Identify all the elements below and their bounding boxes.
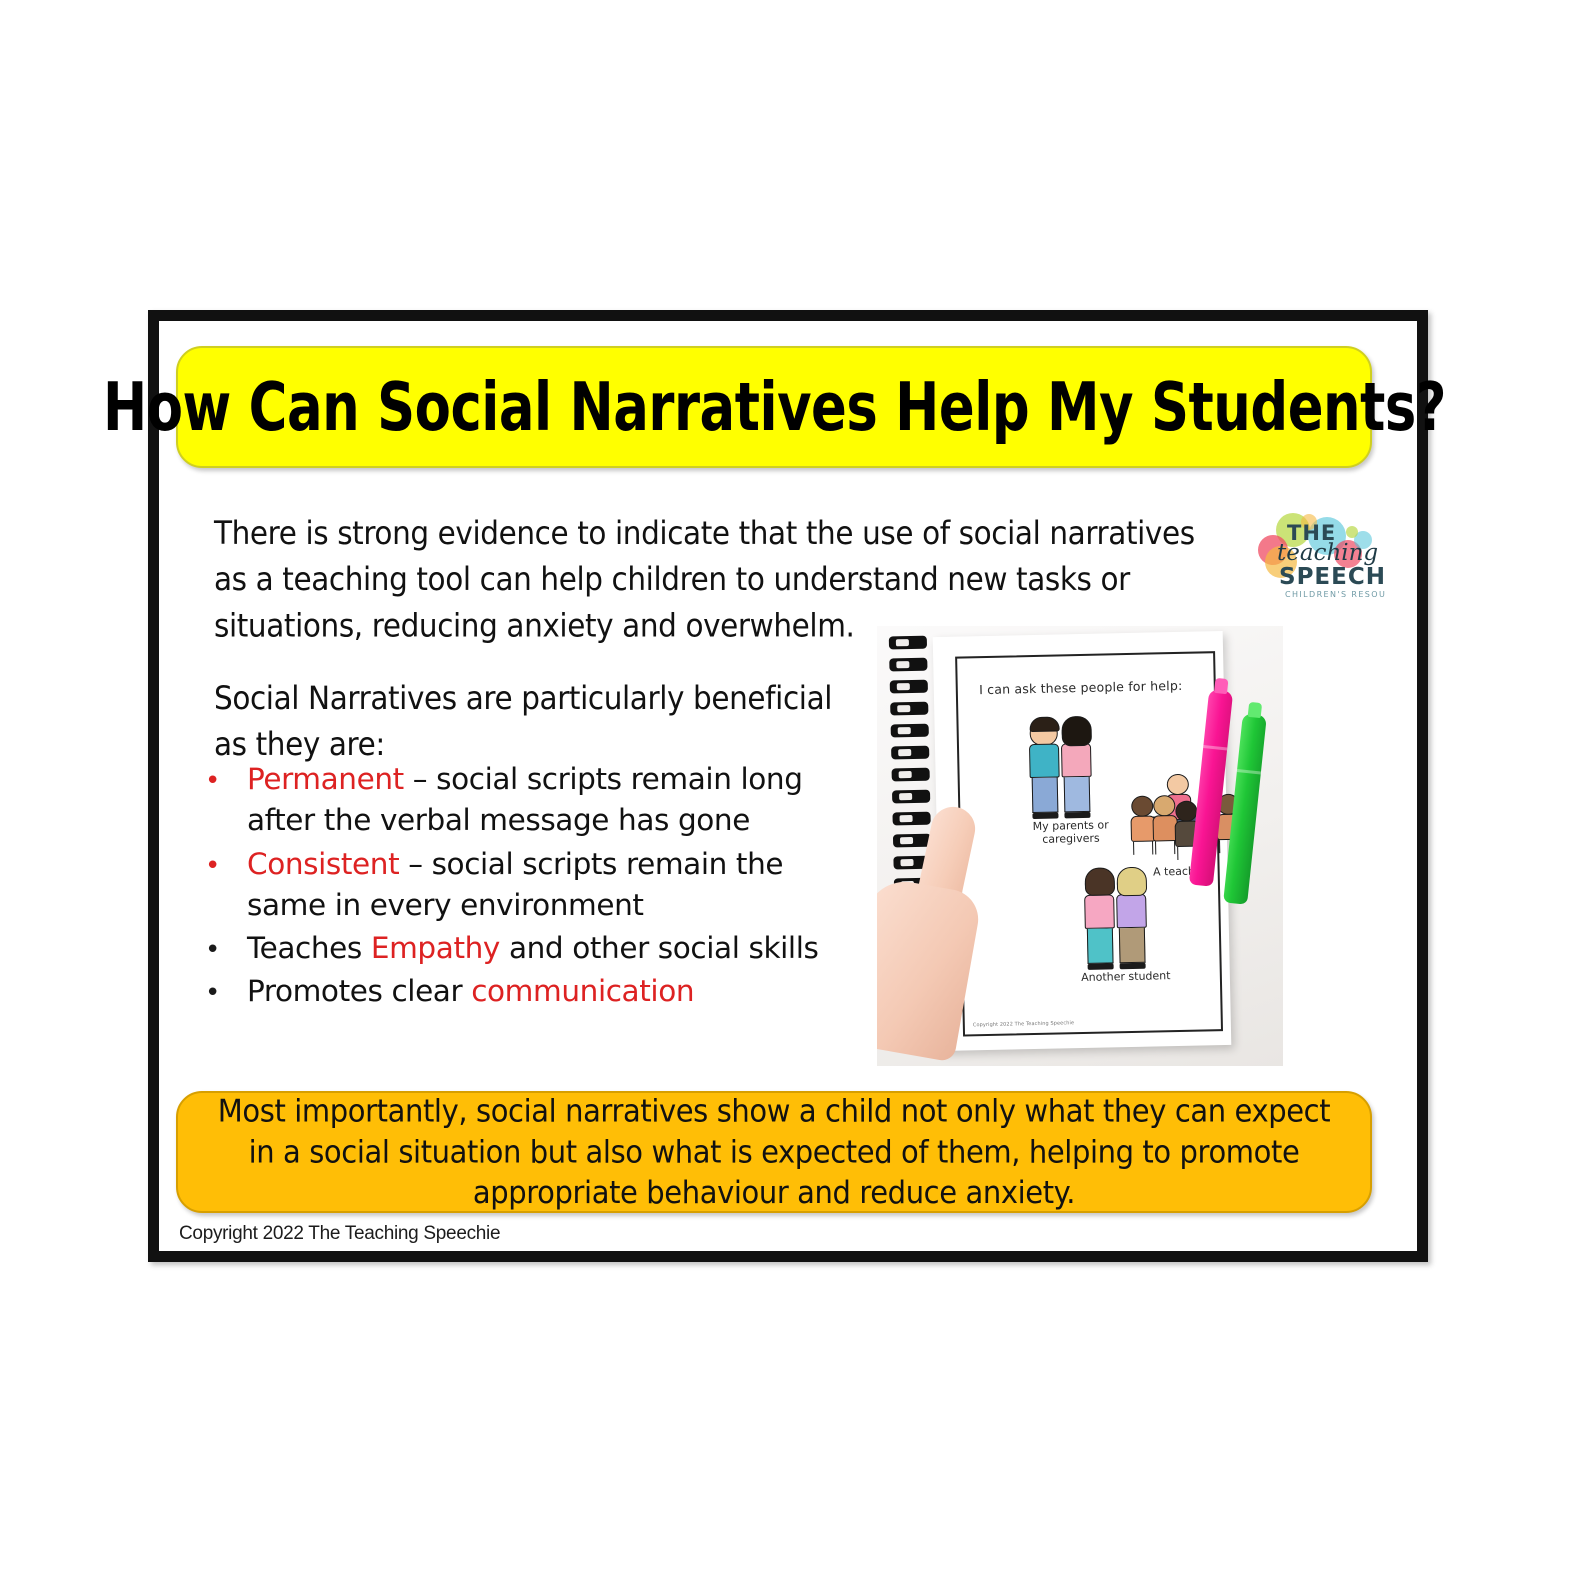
parents-illustration (1022, 719, 1116, 819)
footer-text: Most importantly, social narratives show… (210, 1091, 1338, 1214)
list-item-keyword: communication (471, 974, 694, 1008)
brand-logo: THE teaching SPEECHIE CHILDREN'S RESOURC… (1251, 506, 1386, 601)
svg-text:SPEECHIE: SPEECHIE (1279, 564, 1386, 590)
list-item-prefix: Teaches (247, 931, 371, 965)
palm (877, 876, 983, 1063)
list-item-text: and other social skills (500, 931, 819, 965)
list-item-prefix: Promotes clear (247, 974, 471, 1008)
footer-callout: Most importantly, social narratives show… (176, 1091, 1372, 1213)
photo-figure-student: Another student (1078, 880, 1172, 985)
photo-figure-parents: My parents or caregivers (1022, 719, 1117, 846)
marker-tip (1214, 678, 1228, 694)
marker-band (1237, 769, 1261, 774)
list-item: •Permanent – social scripts remain long … (205, 759, 845, 842)
logo-icon: THE teaching SPEECHIE CHILDREN'S RESOURC… (1251, 506, 1386, 601)
benefits-lead-in: Social Narratives are particularly benef… (214, 676, 834, 768)
svg-text:CHILDREN'S RESOURCES: CHILDREN'S RESOURCES (1285, 590, 1386, 599)
bullet-icon: • (205, 763, 247, 799)
bullet-icon: • (205, 975, 247, 1011)
list-item: •Promotes clear communication (205, 971, 845, 1012)
list-item: •Teaches Empathy and other social skills (205, 928, 845, 969)
page-title: How Can Social Narratives Help My Studen… (102, 368, 1445, 446)
photo-figure-caption: My parents or caregivers (1025, 819, 1118, 846)
list-item-keyword: Empathy (371, 931, 500, 965)
title-banner: How Can Social Narratives Help My Studen… (176, 346, 1372, 468)
bullet-icon: • (205, 932, 247, 968)
pointing-hand (879, 806, 999, 1046)
copyright-line: Copyright 2022 The Teaching Speechie (179, 1223, 500, 1245)
photo-figure-caption: Another student (1080, 970, 1172, 985)
svg-text:teaching: teaching (1277, 540, 1378, 566)
marker-tip (1248, 702, 1262, 718)
slide-frame: How Can Social Narratives Help My Studen… (148, 310, 1428, 1262)
students-illustration (1078, 880, 1172, 970)
benefits-list: •Permanent – social scripts remain long … (205, 759, 845, 1015)
list-item-keyword: Consistent (247, 847, 399, 881)
list-item: •Consistent – social scripts remain the … (205, 844, 845, 927)
bullet-icon: • (205, 848, 247, 884)
slide-canvas: How Can Social Narratives Help My Studen… (159, 321, 1417, 1251)
social-narrative-booklet-photo: I can ask these people for help: (877, 626, 1283, 1066)
list-item-keyword: Permanent (247, 762, 404, 796)
marker-band (1203, 745, 1227, 750)
